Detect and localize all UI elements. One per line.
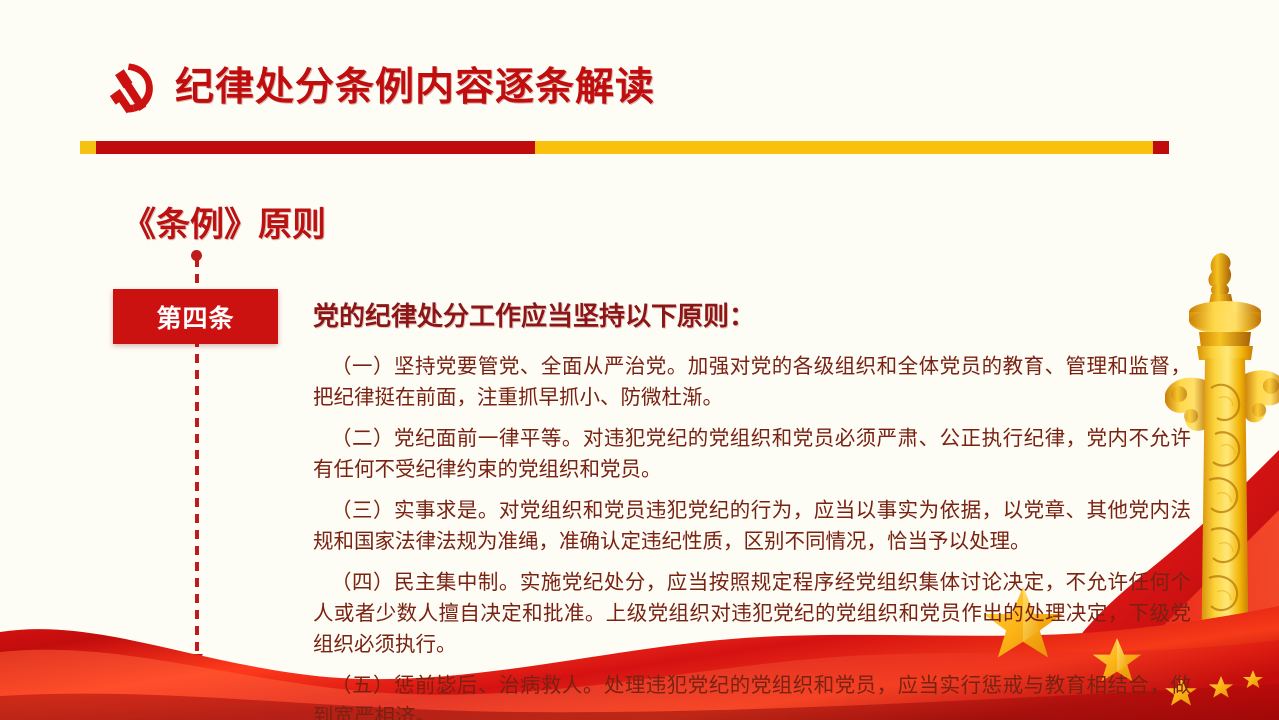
header-divider-bar: [0, 141, 1279, 154]
page-title: 纪律处分条例内容逐条解读: [175, 56, 655, 112]
principle-paragraph: （四）民主集中制。实施党纪处分，应当按照规定程序经党组织集体讨论决定，不允许任何…: [313, 567, 1191, 660]
divider-segment-yellow-main: [535, 141, 1153, 154]
principle-paragraph: （三）实事求是。对党组织和党员违犯党纪的行为，应当以事实为依据，以党章、其他党内…: [313, 495, 1191, 557]
principle-paragraph: （二）党纪面前一律平等。对违犯党纪的党组织和党员必须严肃、公正执行纪律，党内不允…: [313, 423, 1191, 485]
content-title: 党的纪律处分工作应当坚持以下原则：: [313, 296, 1191, 333]
principle-paragraph: （五）惩前毖后、治病救人。处理违犯党纪的党组织和党员，应当实行惩戒与教育相结合，…: [313, 670, 1191, 720]
divider-segment-yellow-left: [80, 141, 96, 154]
section-heading: 《条例》原则: [122, 197, 326, 246]
slide-canvas: 纪律处分条例内容逐条解读 《条例》原则 第四条 党的纪律处分工作应当坚持以下原则…: [0, 0, 1279, 720]
principle-paragraph: （一）坚持党要管党、全面从严治党。加强对党的各级组织和全体党员的教育、管理和监督…: [313, 351, 1191, 413]
article-badge[interactable]: 第四条: [113, 289, 278, 344]
article-badge-label: 第四条: [156, 299, 234, 335]
hammer-sickle-emblem-icon: [98, 60, 160, 118]
slide-header: 纪律处分条例内容逐条解读: [0, 48, 1279, 126]
divider-segment-red-main: [96, 141, 535, 154]
divider-segment-red-right: [1153, 141, 1169, 154]
article-content: 党的纪律处分工作应当坚持以下原则： （一）坚持党要管党、全面从严治党。加强对党的…: [313, 296, 1191, 720]
